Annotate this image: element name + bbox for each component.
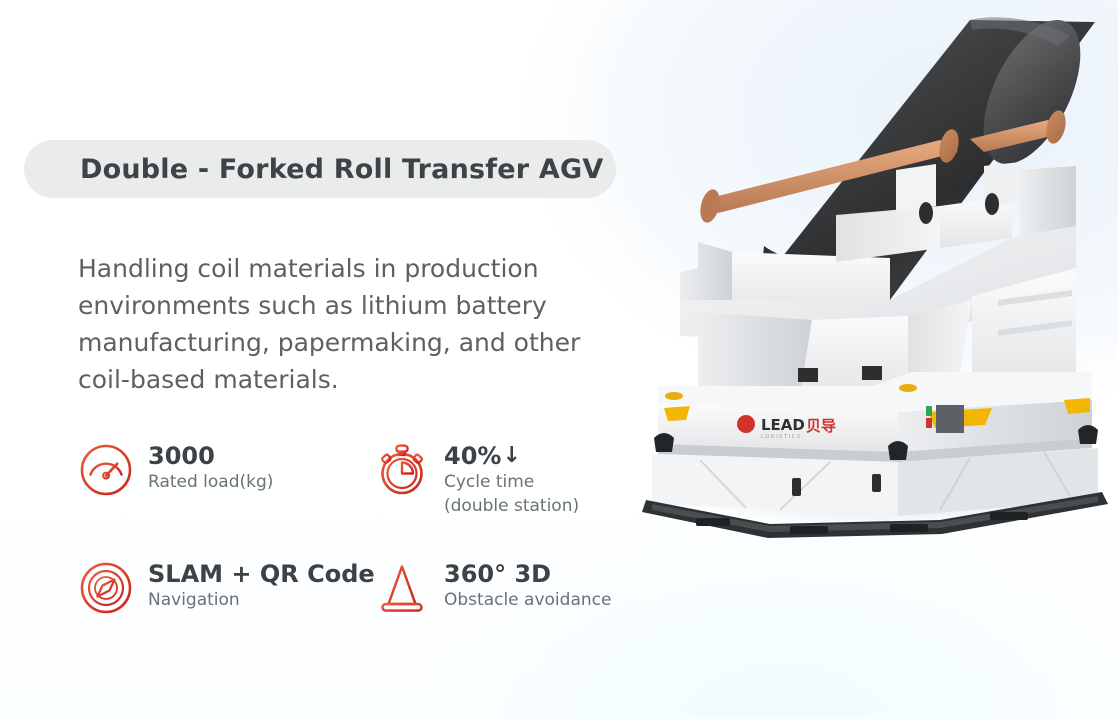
compass-icon <box>78 560 134 616</box>
feature-value: SLAM + QR Code <box>148 560 375 588</box>
feature-label: Cycle time <box>444 472 534 492</box>
gauge-icon <box>78 442 134 498</box>
feature-grid: 3000 Rated load(kg) <box>78 440 653 616</box>
page-title-pill: Double - Forked Roll Transfer AGV <box>24 140 616 198</box>
feature-value: 360° 3D <box>444 560 611 588</box>
feature-value: 3000 <box>148 442 273 470</box>
traffic-cone-icon <box>374 560 430 616</box>
down-arrow-icon: ↓ <box>502 442 520 470</box>
slide-background: Double - Forked Roll Transfer AGV Handli… <box>0 0 1118 719</box>
feature-item-obstacle-avoidance: 360° 3D Obstacle avoidance <box>374 558 654 616</box>
feature-label: Rated load(kg) <box>148 472 273 492</box>
agv-illustration: LEAD 贝导 LOGISTICS <box>640 0 1118 560</box>
feature-item-navigation: SLAM + QR Code Navigation <box>78 558 374 616</box>
left-content-column: Double - Forked Roll Transfer AGV Handli… <box>0 0 660 719</box>
feature-label: Navigation <box>148 590 240 610</box>
feature-label-secondary: (double station) <box>444 496 579 516</box>
svg-text:贝导: 贝导 <box>806 417 836 435</box>
feature-item-rated-load: 3000 Rated load(kg) <box>78 440 374 558</box>
page-title: Double - Forked Roll Transfer AGV <box>80 154 603 185</box>
feature-label: Obstacle avoidance <box>444 590 611 610</box>
svg-text:LEAD: LEAD <box>761 416 805 434</box>
product-image-agv: LEAD 贝导 LOGISTICS <box>640 0 1118 560</box>
description-text: Handling coil materials in production en… <box>78 250 638 398</box>
feature-value: 40%↓ <box>444 442 654 470</box>
svg-text:LOGISTICS: LOGISTICS <box>761 434 802 440</box>
stopwatch-icon <box>374 442 430 498</box>
feature-item-cycle-time: 40%↓ Cycle time (double station) <box>374 440 654 558</box>
